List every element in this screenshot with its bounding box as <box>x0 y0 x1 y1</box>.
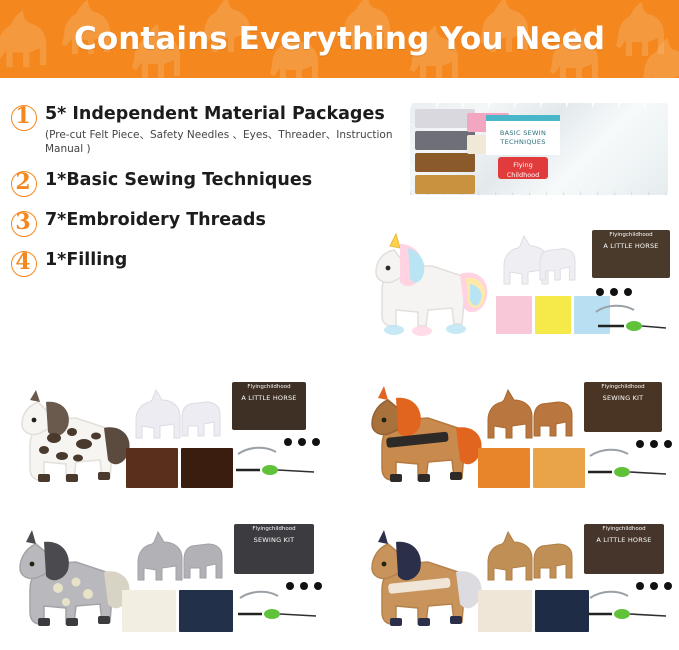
needle-icon <box>596 306 634 312</box>
instruction-manual: Flyingchildhood A LITTLE HORSE <box>592 230 670 278</box>
threader-icon <box>614 609 630 619</box>
manual-title: SEWING KIT <box>584 390 662 402</box>
grey-horse-kit-photo: Flyingchildhood SEWING KIT <box>4 522 326 646</box>
felt-swatch-row <box>478 590 589 632</box>
feature-item-1: 1 5* Independent Material Packages (Pre-… <box>10 104 430 156</box>
spotted-horse-plush <box>10 386 140 496</box>
safety-eyes-icon <box>636 582 644 590</box>
precut-felt-shapes <box>480 526 580 588</box>
manual-brand: Flyingchildhood <box>592 230 670 238</box>
page-title: Contains Everything You Need <box>0 0 679 78</box>
feature-number-2: 2 <box>10 170 36 196</box>
tan-horse-plush <box>362 528 492 640</box>
felt-sheet-stack <box>415 109 475 197</box>
manual-brand: Flyingchildhood <box>584 524 664 532</box>
safety-eyes-icon <box>636 440 644 448</box>
instruction-manual: Flyingchildhood SEWING KIT <box>234 524 314 574</box>
manual-title: SEWING KIT <box>234 532 314 544</box>
needle-icon <box>590 592 628 598</box>
unicorn-plush <box>360 232 500 344</box>
tan-horse-kit-photo: Flyingchildhood A LITTLE HORSE <box>352 522 674 646</box>
manual-brand: Flyingchildhood <box>584 382 662 390</box>
booklet-title-line1: BASIC SEWIN <box>486 129 560 138</box>
brand-line2: Childhood <box>498 171 548 181</box>
instruction-manual: Flyingchildhood A LITTLE HORSE <box>232 382 306 430</box>
tools-group <box>232 578 324 638</box>
threader-icon <box>614 467 630 477</box>
instruction-manual: Flyingchildhood SEWING KIT <box>584 382 662 432</box>
safety-eyes-icon <box>286 582 294 590</box>
brown-horse-plush <box>362 384 492 496</box>
feature-number-4: 4 <box>10 250 36 276</box>
tools-group <box>582 436 674 496</box>
feature-subtitle-1: (Pre-cut Felt Piece、Safety Needles 、Eyes… <box>45 129 430 156</box>
unicorn-kit-photo: Flyingchildhood A LITTLE HORSE <box>352 228 674 348</box>
header-banner: Contains Everything You Need <box>0 0 679 78</box>
spotted-horse-kit-photo: Flyingchildhood A LITTLE HORSE <box>4 378 326 504</box>
brown-horse-kit-photo: Flyingchildhood SEWING KIT <box>352 378 674 504</box>
safety-eyes-icon <box>596 288 604 296</box>
felt-swatch-row <box>126 448 233 488</box>
grey-horse-plush <box>10 528 140 640</box>
threader-icon <box>262 465 278 475</box>
tools-group <box>590 282 674 344</box>
safety-eyes-icon <box>284 438 292 446</box>
feature-number-3: 3 <box>10 210 36 236</box>
feature-title-2: 1*Basic Sewing Techniques <box>45 170 430 192</box>
precut-felt-shapes <box>130 526 230 588</box>
feature-number-1: 1 <box>10 104 36 130</box>
threader-icon <box>264 609 280 619</box>
needle-icon <box>590 450 628 456</box>
instruction-booklet-cover: BASIC SEWIN TECHNIQUES <box>486 115 560 155</box>
felt-swatch-row <box>122 590 233 632</box>
felt-swatch-row <box>478 448 585 488</box>
needle-icon <box>238 448 276 454</box>
precut-felt-shapes <box>480 384 580 446</box>
threader-icon <box>626 321 642 331</box>
manual-title: A LITTLE HORSE <box>232 390 306 402</box>
material-package-bag-photo: BASIC SEWIN TECHNIQUES Flying Childhood <box>410 103 668 195</box>
manual-title: A LITTLE HORSE <box>592 238 670 250</box>
manual-title: A LITTLE HORSE <box>584 532 664 544</box>
brand-line1: Flying <box>498 161 548 171</box>
tools-group <box>582 578 674 638</box>
manual-brand: Flyingchildhood <box>234 524 314 532</box>
booklet-title-line2: TECHNIQUES <box>486 138 560 147</box>
tools-group <box>230 434 322 494</box>
instruction-manual: Flyingchildhood A LITTLE HORSE <box>584 524 664 574</box>
manual-brand: Flyingchildhood <box>232 382 306 390</box>
feature-title-1: 5* Independent Material Packages <box>45 104 430 126</box>
needle-icon <box>240 592 278 598</box>
brand-logo-badge: Flying Childhood <box>498 157 548 179</box>
precut-felt-shapes <box>128 384 228 446</box>
feature-item-2: 2 1*Basic Sewing Techniques <box>10 170 430 196</box>
precut-felt-shapes <box>498 232 590 292</box>
